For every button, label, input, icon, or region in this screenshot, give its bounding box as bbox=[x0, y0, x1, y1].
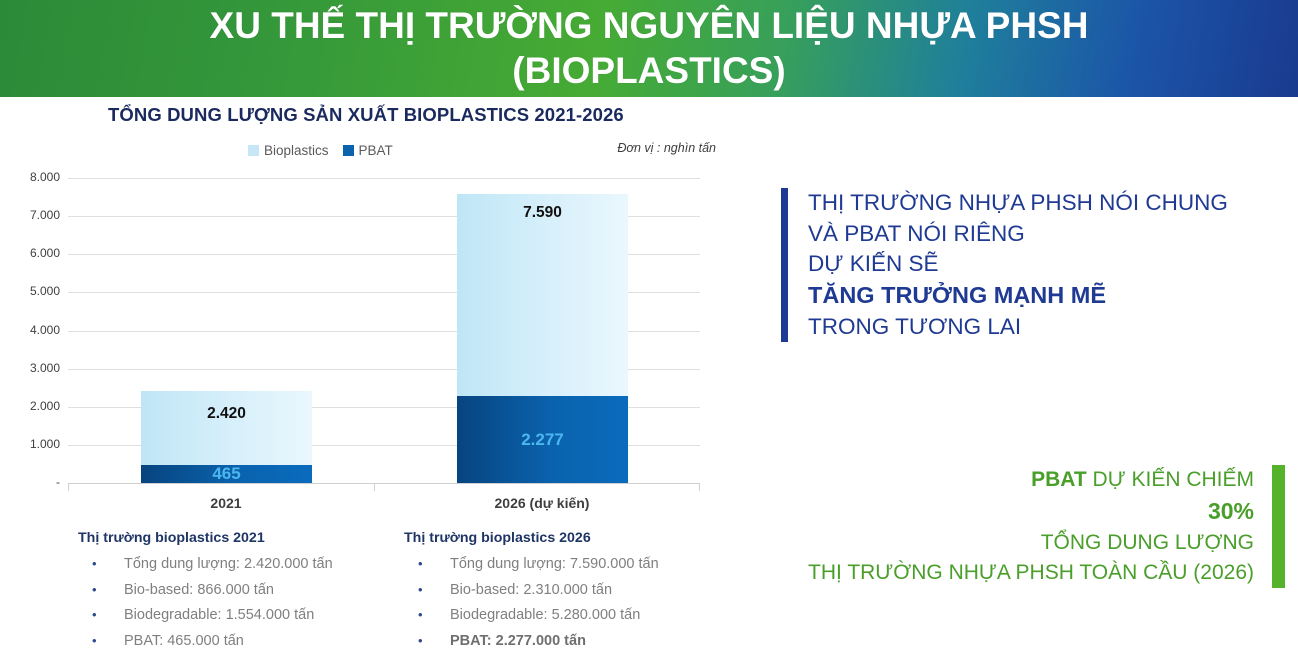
chart-y-tick-label: 4.000 bbox=[16, 323, 60, 337]
statement-line-emphasis: TĂNG TRƯỞNG MẠNH MẼ bbox=[808, 280, 1228, 312]
bullet-icon: • bbox=[404, 555, 450, 573]
chart-x-axis-tick-mid bbox=[374, 483, 375, 491]
detail-list: • Tổng dung lượng: 2.420.000 tấn • Bio-b… bbox=[78, 555, 333, 651]
bar-total-label: 7.590 bbox=[523, 204, 562, 222]
bullet-icon: • bbox=[404, 632, 450, 650]
bullet-icon: • bbox=[404, 606, 450, 624]
bullet-icon: • bbox=[78, 606, 124, 624]
chart-y-tick-label: 7.000 bbox=[16, 208, 60, 222]
chart-y-tick-label: 3.000 bbox=[16, 361, 60, 375]
bar-pbat-label: 465 bbox=[212, 464, 240, 484]
statement-panel: THỊ TRƯỜNG NHỰA PHSH NÓI CHUNG VÀ PBAT N… bbox=[781, 188, 1228, 342]
bar-segment-bioplastics[interactable]: 2.420 bbox=[141, 391, 312, 466]
chart-x-axis-tick-right bbox=[699, 483, 700, 491]
chart-category-label: 2021 bbox=[116, 495, 336, 511]
callout-pbat-label: PBAT bbox=[1031, 468, 1087, 491]
callout-line-3: TỔNG DUNG LƯỢNG bbox=[808, 528, 1254, 558]
legend-label-pbat: PBAT bbox=[359, 143, 393, 158]
detail-text: Biodegradable: 1.554.000 tấn bbox=[124, 606, 314, 626]
detail-text: Tổng dung lượng: 2.420.000 tấn bbox=[124, 555, 333, 575]
legend-swatch-icon-pbat bbox=[343, 145, 354, 156]
chart-y-tick-label: 2.000 bbox=[16, 399, 60, 413]
bar-segment-bioplastics[interactable]: 7.590 bbox=[457, 194, 628, 397]
bar-segment-pbat[interactable]: 2.277 bbox=[457, 396, 628, 483]
chart-y-tick-label: 6.000 bbox=[16, 246, 60, 260]
callout-line-1-rest: DỰ KIẾN CHIẾM bbox=[1087, 468, 1254, 491]
list-item: • Bio-based: 2.310.000 tấn bbox=[404, 581, 659, 601]
statement-line: THỊ TRƯỜNG NHỰA PHSH NÓI CHUNG bbox=[808, 188, 1228, 219]
bar-segment-pbat[interactable]: 465 bbox=[141, 465, 312, 483]
chart-y-tick-label: 8.000 bbox=[16, 170, 60, 184]
list-item: • Biodegradable: 1.554.000 tấn bbox=[78, 606, 333, 626]
legend-item-pbat[interactable]: PBAT bbox=[343, 143, 393, 158]
detail-text: PBAT: 465.000 tấn bbox=[124, 632, 244, 652]
bullet-icon: • bbox=[404, 581, 450, 599]
callout-line-4: THỊ TRƯỜNG NHỰA PHSH TOÀN CẦU (2026) bbox=[808, 558, 1254, 588]
detail-text: PBAT: 2.277.000 tấn bbox=[450, 632, 586, 652]
detail-text: Biodegradable: 5.280.000 tấn bbox=[450, 606, 640, 626]
legend-swatch-icon-bioplastics bbox=[248, 145, 259, 156]
chart-gridline bbox=[68, 178, 700, 179]
slide-root: XU THẾ THỊ TRƯỜNG NGUYÊN LIỆU NHỰA PHSH … bbox=[0, 0, 1298, 666]
chart-legend: Bioplastics PBAT bbox=[248, 143, 393, 158]
callout-lines: PBAT DỰ KIẾN CHIẾM 30% TỔNG DUNG LƯỢNG T… bbox=[808, 465, 1272, 588]
chart-y-tick-label: 5.000 bbox=[16, 284, 60, 298]
detail-heading: Thị trường bioplastics 2026 bbox=[404, 530, 659, 546]
callout-accent-bar bbox=[1272, 465, 1285, 588]
legend-label-bioplastics: Bioplastics bbox=[264, 143, 329, 158]
bullet-icon: • bbox=[78, 555, 124, 573]
detail-list: • Tổng dung lượng: 7.590.000 tấn • Bio-b… bbox=[404, 555, 659, 651]
callout-percent: 30% bbox=[808, 495, 1254, 528]
bullet-icon: • bbox=[78, 581, 124, 599]
list-item: • PBAT: 465.000 tấn bbox=[78, 632, 333, 652]
legend-item-bioplastics[interactable]: Bioplastics bbox=[248, 143, 329, 158]
chart-x-axis-tick-left bbox=[68, 483, 69, 491]
list-item: • Tổng dung lượng: 2.420.000 tấn bbox=[78, 555, 333, 575]
statement-line: DỰ KIẾN SẼ bbox=[808, 249, 1228, 280]
list-item: • Bio-based: 866.000 tấn bbox=[78, 581, 333, 601]
bullet-icon: • bbox=[78, 632, 124, 650]
statement-line: TRONG TƯƠNG LAI bbox=[808, 312, 1228, 343]
statement-line: VÀ PBAT NÓI RIÊNG bbox=[808, 219, 1228, 250]
detail-text: Bio-based: 2.310.000 tấn bbox=[450, 581, 612, 601]
callout-line-1: PBAT DỰ KIẾN CHIẾM bbox=[808, 465, 1254, 495]
list-item: • Tổng dung lượng: 7.590.000 tấn bbox=[404, 555, 659, 575]
detail-text: Bio-based: 866.000 tấn bbox=[124, 581, 274, 601]
chart-category-label: 2026 (dự kiến) bbox=[432, 495, 652, 511]
chart-x-axis bbox=[68, 483, 700, 484]
list-item: • Biodegradable: 5.280.000 tấn bbox=[404, 606, 659, 626]
statement-accent-bar bbox=[781, 188, 788, 342]
statement-lines: THỊ TRƯỜNG NHỰA PHSH NÓI CHUNG VÀ PBAT N… bbox=[788, 188, 1228, 342]
list-item: • PBAT: 2.277.000 tấn bbox=[404, 632, 659, 652]
chart-unit-note: Đơn vị : nghìn tấn bbox=[617, 141, 716, 155]
bar-pbat-label: 2.277 bbox=[521, 430, 564, 450]
chart-y-tick-label: - bbox=[16, 475, 60, 489]
bar-total-label: 2.420 bbox=[207, 405, 246, 423]
detail-block-2026: Thị trường bioplastics 2026 • Tổng dung … bbox=[404, 530, 659, 657]
chart-y-tick-label: 1.000 bbox=[16, 437, 60, 451]
chart-title: TỔNG DUNG LƯỢNG SẢN XUẤT BIOPLASTICS 202… bbox=[108, 104, 624, 126]
detail-block-2021: Thị trường bioplastics 2021 • Tổng dung … bbox=[78, 530, 333, 657]
detail-text: Tổng dung lượng: 7.590.000 tấn bbox=[450, 555, 659, 575]
header-banner: XU THẾ THỊ TRƯỜNG NGUYÊN LIỆU NHỰA PHSH … bbox=[0, 0, 1298, 97]
page-title: XU THẾ THỊ TRƯỜNG NGUYÊN LIỆU NHỰA PHSH … bbox=[210, 4, 1089, 93]
detail-heading: Thị trường bioplastics 2021 bbox=[78, 530, 333, 546]
callout-panel: PBAT DỰ KIẾN CHIẾM 30% TỔNG DUNG LƯỢNG T… bbox=[808, 465, 1285, 588]
